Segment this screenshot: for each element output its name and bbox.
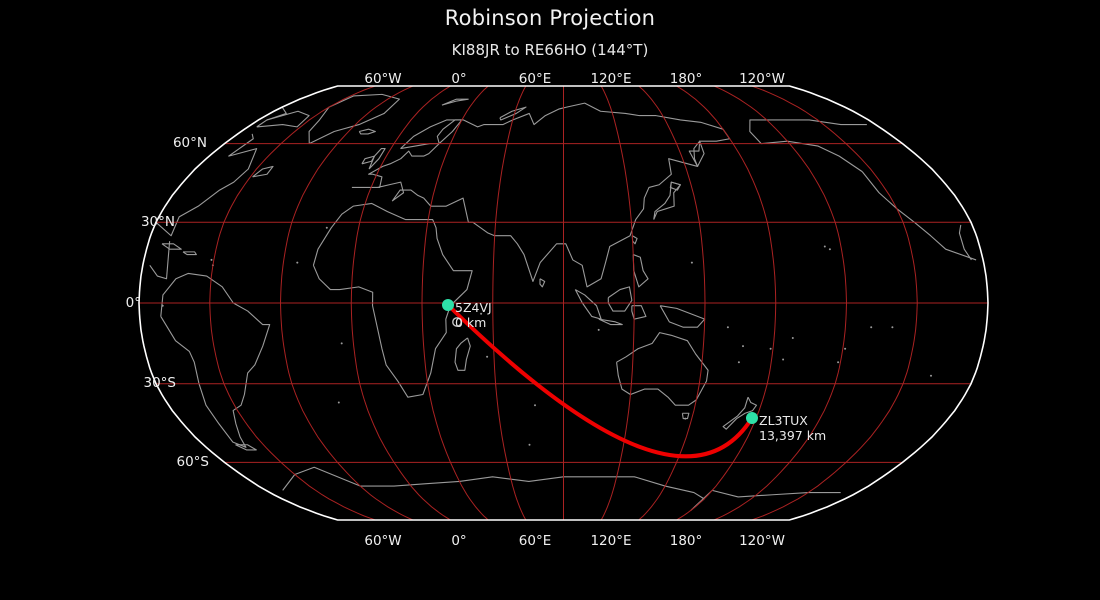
island-marker <box>829 248 831 250</box>
coastline <box>633 255 648 287</box>
island-marker <box>727 326 729 328</box>
coastline <box>253 166 273 176</box>
lat-tick-label: 30°S <box>0 375 176 391</box>
coastline <box>750 120 867 172</box>
station-callsign: 5Z4VJ <box>455 300 492 315</box>
island-marker <box>486 356 488 358</box>
lat-tick-label: 60°N <box>0 135 207 151</box>
lon-tick-label-bottom: 60°E <box>519 533 551 549</box>
island-marker <box>296 262 298 264</box>
coastline <box>660 306 705 328</box>
station-callsign: ZL3TUX <box>759 413 826 428</box>
lon-tick-label-bottom: 120°E <box>590 533 631 549</box>
lon-tick-label-top: 120°E <box>590 71 631 87</box>
station-distance: 0 km <box>455 315 492 330</box>
island-marker <box>770 348 772 350</box>
coastline <box>599 319 622 324</box>
island-marker <box>691 262 693 264</box>
island-marker <box>211 259 213 261</box>
coastline <box>309 94 399 143</box>
coastline <box>401 120 462 149</box>
lon-tick-label-bottom: 60°W <box>364 533 401 549</box>
coastline <box>362 156 375 164</box>
island-marker <box>930 375 932 377</box>
island-marker <box>598 329 600 331</box>
lon-tick-label-top: 0° <box>451 71 466 87</box>
coastline <box>257 111 309 127</box>
island-marker <box>326 227 328 229</box>
island-marker <box>684 418 686 420</box>
lon-tick-label-top: 60°E <box>519 71 551 87</box>
lon-tick-label-bottom: 180° <box>670 533 703 549</box>
map-figure: Robinson Projection KI88JR to RE66HO (14… <box>0 0 1100 600</box>
island-marker <box>534 404 536 406</box>
lon-tick-label-bottom: 120°W <box>739 533 785 549</box>
coastline <box>161 273 270 447</box>
coastline <box>654 182 681 219</box>
coastline <box>608 287 632 311</box>
lon-tick-label-bottom: 0° <box>451 533 466 549</box>
station-label: 5Z4VJ0 km <box>455 300 492 330</box>
coastline <box>442 99 468 105</box>
lat-tick-label: 60°S <box>0 454 209 470</box>
island-marker <box>792 337 794 339</box>
island-marker <box>338 402 340 404</box>
coastline <box>183 252 196 255</box>
coastline <box>575 290 601 320</box>
coastline <box>455 338 470 370</box>
lat-tick-label: 30°N <box>0 214 175 230</box>
lon-tick-label-top: 180° <box>670 71 703 87</box>
island-marker <box>891 326 893 328</box>
coastline <box>540 279 545 287</box>
island-marker <box>844 348 846 350</box>
island-marker <box>824 246 826 248</box>
coastline <box>862 172 976 260</box>
island-marker <box>870 326 872 328</box>
map-landmasses <box>150 94 976 510</box>
lon-tick-label-top: 120°W <box>739 71 785 87</box>
lon-tick-label-top: 60°W <box>364 71 401 87</box>
island-marker <box>341 342 343 344</box>
lat-tick-label: 0° <box>0 295 141 311</box>
station-marker[interactable] <box>442 299 454 311</box>
island-marker <box>529 444 531 446</box>
island-marker <box>742 345 744 347</box>
island-marker <box>162 305 164 307</box>
island-marker <box>738 361 740 363</box>
station-marker[interactable] <box>746 412 758 424</box>
coastline <box>352 103 730 287</box>
coastline <box>283 467 712 510</box>
robinson-map <box>0 0 1100 600</box>
coastline <box>162 244 181 249</box>
station-label: ZL3TUX13,397 km <box>759 413 826 443</box>
island-marker <box>782 359 784 361</box>
coastline <box>712 490 841 497</box>
coastline <box>359 129 375 134</box>
island-marker <box>837 361 839 363</box>
station-distance: 13,397 km <box>759 428 826 443</box>
map-graticule <box>139 86 988 520</box>
